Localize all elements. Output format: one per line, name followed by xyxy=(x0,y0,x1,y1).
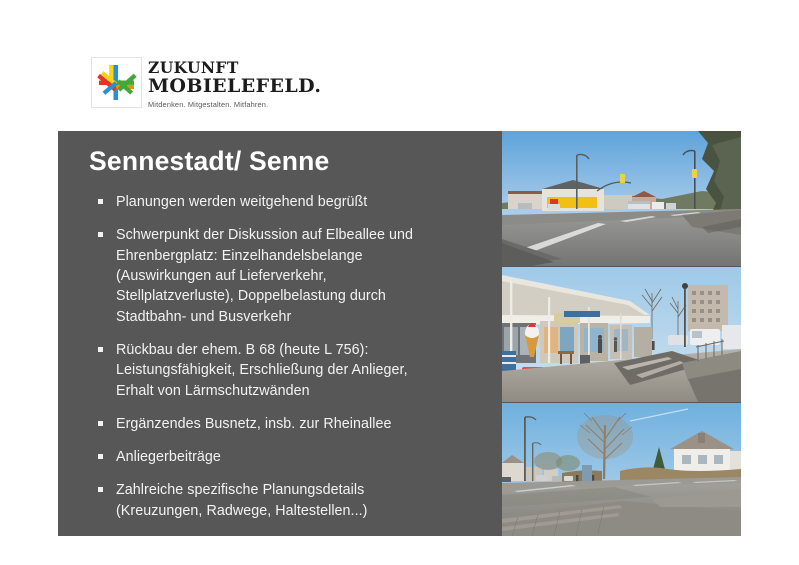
list-item: Schwerpunkt der Diskussion auf Elbeallee… xyxy=(89,225,492,326)
page-title: Sennestadt/ Senne xyxy=(89,147,492,176)
content-panel: Sennestadt/ Senne Planungen werden weitg… xyxy=(58,131,741,536)
photo-column xyxy=(502,131,741,536)
list-item: Rückbau der ehem. B 68 (heute L 756): Le… xyxy=(89,340,492,401)
logo-line-zukunft: ZUKUNFT xyxy=(148,60,321,76)
list-item-text: Anliegerbeiträge xyxy=(116,447,492,467)
logo-line-mobielefeld: MOBIELEFELD. xyxy=(148,77,321,96)
logo-tagline: Mitdenken. Mitgestalten. Mitfahren. xyxy=(148,100,321,109)
slide-canvas: ZUKUNFT MOBIELEFELD. Mitdenken. Mitgesta… xyxy=(0,0,799,565)
list-item-text: Schwerpunkt der Diskussion auf Elbeallee… xyxy=(116,225,492,326)
square-bullet-icon xyxy=(98,487,103,492)
list-item: Ergänzendes Busnetz, insb. zur Rheinalle… xyxy=(89,414,492,434)
square-bullet-icon xyxy=(98,454,103,459)
text-column: Sennestadt/ Senne Planungen werden weitg… xyxy=(58,131,502,536)
list-item-text: Zahlreiche spezifische Planungsdetails (… xyxy=(116,480,492,521)
bullet-list: Planungen werden weitgehend begrüßt Schw… xyxy=(89,192,492,521)
bottom-white-strip xyxy=(0,536,799,565)
brand-logo: ZUKUNFT MOBIELEFELD. Mitdenken. Mitgesta… xyxy=(92,58,321,109)
square-bullet-icon xyxy=(98,347,103,352)
photo-road-junction-with-house xyxy=(502,403,741,536)
logo-wordmark: ZUKUNFT MOBIELEFELD. Mitdenken. Mitgesta… xyxy=(148,58,321,109)
list-item: Planungen werden weitgehend begrüßt xyxy=(89,192,492,212)
list-item-text: Rückbau der ehem. B 68 (heute L 756): Le… xyxy=(116,340,492,401)
list-item: Zahlreiche spezifische Planungsdetails (… xyxy=(89,480,492,521)
square-bullet-icon xyxy=(98,199,103,204)
list-item-text: Ergänzendes Busnetz, insb. zur Rheinalle… xyxy=(116,414,492,434)
square-bullet-icon xyxy=(98,232,103,237)
photo-wide-road-with-shops xyxy=(502,131,741,266)
list-item-text: Planungen werden weitgehend begrüßt xyxy=(116,192,492,212)
list-item: Anliegerbeiträge xyxy=(89,447,492,467)
square-bullet-icon xyxy=(98,421,103,426)
zukunft-mobielefeld-star-logo-icon xyxy=(92,58,141,107)
photo-pedestrian-shopping-street xyxy=(502,267,741,402)
